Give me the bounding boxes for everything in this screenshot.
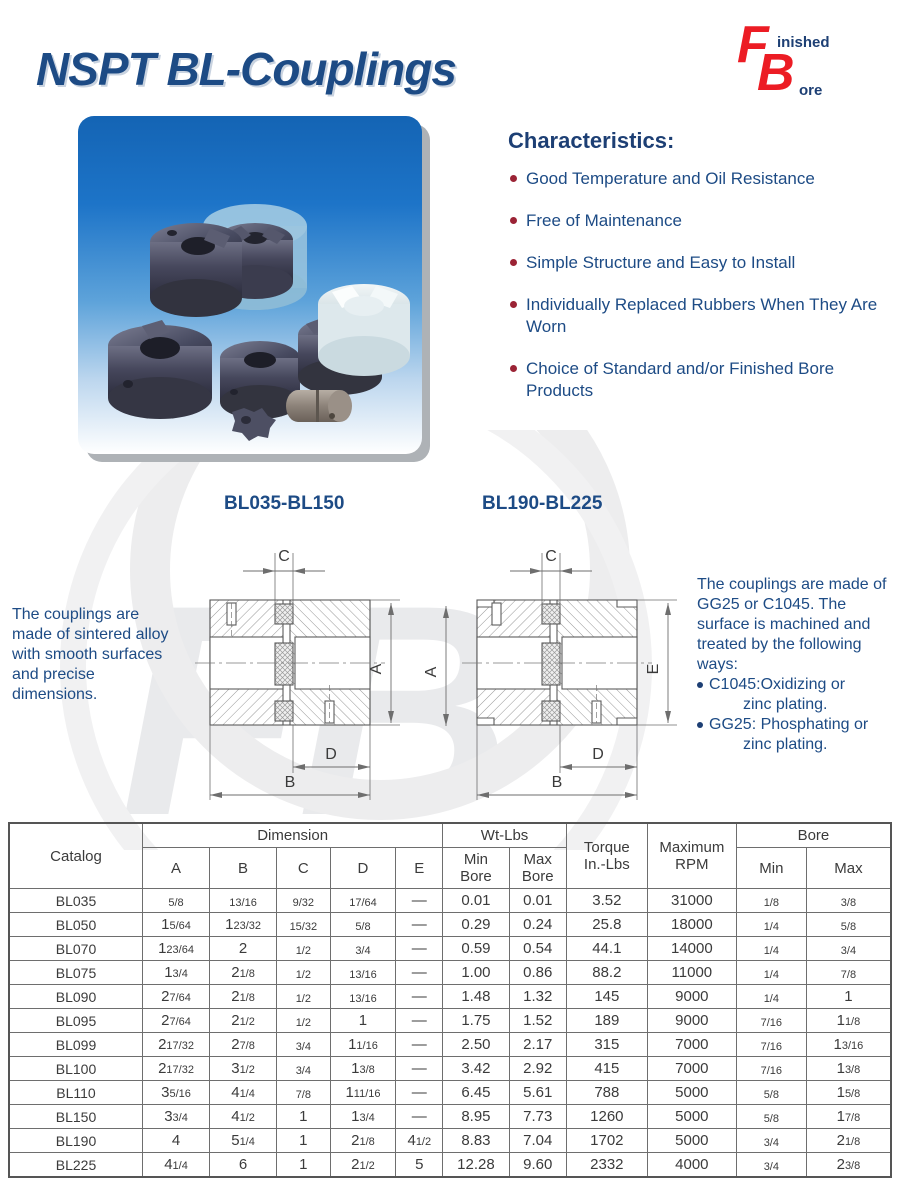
- th-weight: Wt-Lbs: [443, 823, 567, 848]
- cell-dim-a: 4: [143, 1129, 210, 1153]
- cell-catalog: BL099: [9, 1033, 143, 1057]
- cell-dim-a: 13/4: [143, 961, 210, 985]
- cell-torque: 3.52: [566, 889, 647, 913]
- cell-catalog: BL050: [9, 913, 143, 937]
- logo-bore-text: ore: [799, 82, 822, 99]
- cell-max-bore-weight: 7.04: [509, 1129, 566, 1153]
- cell-rpm: 7000: [647, 1033, 736, 1057]
- cell-dim-e: 5: [396, 1153, 443, 1178]
- cell-bore-min: 5/8: [736, 1081, 806, 1105]
- table-row: BL11035/1641/47/8111/16—6.455.6178850005…: [9, 1081, 891, 1105]
- th-dim-b: B: [210, 848, 277, 889]
- cell-dim-d: 111/16: [330, 1081, 396, 1105]
- cell-dim-e: —: [396, 889, 443, 913]
- cell-min-bore-weight: 1.75: [443, 1009, 509, 1033]
- cell-bore-min: 7/16: [736, 1033, 806, 1057]
- cell-torque: 315: [566, 1033, 647, 1057]
- cell-dim-b: 6: [210, 1153, 277, 1178]
- bullet-icon: [510, 175, 517, 182]
- cell-rpm: 7000: [647, 1057, 736, 1081]
- bullet-icon: [510, 217, 517, 224]
- dim-label-c: C: [545, 548, 557, 565]
- cell-dim-a: 217/32: [143, 1057, 210, 1081]
- specification-table-wrapper: Catalog Dimension Wt-Lbs Torque In.-Lbs …: [8, 822, 892, 1178]
- cell-dim-a: 27/64: [143, 985, 210, 1009]
- cell-dim-c: 1/2: [277, 985, 331, 1009]
- cell-min-bore-weight: 8.83: [443, 1129, 509, 1153]
- diagram-caption-right: BL190-BL225: [482, 493, 602, 515]
- characteristics-list: Good Temperature and Oil Resistance Free…: [508, 168, 880, 422]
- table-row: BL15033/441/2113/4—8.957.73126050005/817…: [9, 1105, 891, 1129]
- cell-rpm: 11000: [647, 961, 736, 985]
- dim-label-d: D: [325, 746, 337, 763]
- bullet-icon: [510, 365, 517, 372]
- cell-dim-c: 3/4: [277, 1057, 331, 1081]
- cell-min-bore-weight: 0.01: [443, 889, 509, 913]
- cell-bore-min: 1/4: [736, 985, 806, 1009]
- cell-dim-d: 13/16: [330, 961, 396, 985]
- cell-dim-d: 17/64: [330, 889, 396, 913]
- cell-bore-min: 3/4: [736, 1129, 806, 1153]
- cell-dim-b: 27/8: [210, 1033, 277, 1057]
- cell-bore-min: 1/4: [736, 937, 806, 961]
- th-torque: Torque In.-Lbs: [566, 823, 647, 889]
- cell-bore-min: 3/4: [736, 1153, 806, 1178]
- cell-dim-d: 13/4: [330, 1105, 396, 1129]
- cell-max-bore-weight: 2.17: [509, 1033, 566, 1057]
- cell-torque: 189: [566, 1009, 647, 1033]
- cell-dim-b: 2: [210, 937, 277, 961]
- cell-dim-d: 13/16: [330, 985, 396, 1009]
- cell-max-bore-weight: 9.60: [509, 1153, 566, 1178]
- cell-dim-d: 21/2: [330, 1153, 396, 1178]
- table-header-row-1: Catalog Dimension Wt-Lbs Torque In.-Lbs …: [9, 823, 891, 848]
- right-bullet-item: C1045:Oxidizing or zinc plating.: [697, 675, 893, 715]
- dim-label-c: C: [278, 548, 290, 565]
- cell-bore-max: 17/8: [806, 1105, 891, 1129]
- th-bore: Bore: [736, 823, 891, 848]
- cell-bore-max: 5/8: [806, 913, 891, 937]
- cross-section-bl190-bl225: C E D B: [432, 525, 692, 825]
- cell-dim-e: —: [396, 937, 443, 961]
- cell-bore-max: 21/8: [806, 1129, 891, 1153]
- cell-dim-c: 3/4: [277, 1033, 331, 1057]
- th-max-bore-weight: Max Bore: [509, 848, 566, 889]
- cell-bore-min: 1/4: [736, 961, 806, 985]
- list-item: Choice of Standard and/or Finished Bore …: [508, 358, 880, 402]
- cell-rpm: 14000: [647, 937, 736, 961]
- cell-dim-c: 1/2: [277, 1009, 331, 1033]
- cell-dim-b: 41/2: [210, 1105, 277, 1129]
- cell-max-bore-weight: 5.61: [509, 1081, 566, 1105]
- th-torque-line1: Torque: [584, 839, 630, 856]
- cell-bore-max: 3/4: [806, 937, 891, 961]
- bullet-icon: [510, 259, 517, 266]
- cell-torque: 1702: [566, 1129, 647, 1153]
- cell-torque: 1260: [566, 1105, 647, 1129]
- cell-dim-b: 51/4: [210, 1129, 277, 1153]
- right-bullet-main: GG25: Phosphating or: [709, 716, 868, 733]
- th-max-bore-l1: Max: [524, 851, 552, 868]
- list-item: Individually Replaced Rubbers When They …: [508, 294, 880, 338]
- characteristic-text: Good Temperature and Oil Resistance: [526, 169, 815, 188]
- table-row: BL190451/4121/841/28.837.04170250003/421…: [9, 1129, 891, 1153]
- cell-dim-a: 5/8: [143, 889, 210, 913]
- cell-bore-max: 23/8: [806, 1153, 891, 1178]
- right-note-text: The couplings are made of GG25 or C1045.…: [697, 575, 893, 675]
- dim-label-b: B: [552, 774, 563, 791]
- left-note-text: The couplings are made of sintered alloy…: [12, 605, 180, 705]
- th-catalog: Catalog: [9, 823, 143, 889]
- right-bullet-cont: zinc plating.: [709, 695, 893, 715]
- cell-bore-max: 7/8: [806, 961, 891, 985]
- cell-dim-d: 3/4: [330, 937, 396, 961]
- cell-dim-c: 7/8: [277, 1081, 331, 1105]
- fb-logo: F inished B ore: [737, 22, 857, 104]
- table-row: BL05015/64123/3215/325/8—0.290.2425.8180…: [9, 913, 891, 937]
- right-bullet-item: GG25: Phosphating or zinc plating.: [697, 715, 893, 755]
- cell-dim-b: 21/2: [210, 1009, 277, 1033]
- cell-max-bore-weight: 0.54: [509, 937, 566, 961]
- table-row: BL070123/6421/23/4—0.590.5444.1140001/43…: [9, 937, 891, 961]
- characteristic-text: Individually Replaced Rubbers When They …: [526, 295, 877, 336]
- th-dim-a: A: [143, 848, 210, 889]
- cell-catalog: BL110: [9, 1081, 143, 1105]
- characteristic-text: Simple Structure and Easy to Install: [526, 253, 795, 272]
- list-item: Simple Structure and Easy to Install: [508, 252, 880, 274]
- logo-b-letter: B: [757, 50, 795, 96]
- cell-torque: 25.8: [566, 913, 647, 937]
- cell-min-bore-weight: 1.48: [443, 985, 509, 1009]
- cell-torque: 145: [566, 985, 647, 1009]
- cell-dim-d: 11/16: [330, 1033, 396, 1057]
- cross-section-bl035-bl150: C A D B: [165, 525, 425, 825]
- cell-torque: 788: [566, 1081, 647, 1105]
- table-row: BL22541/46121/2512.289.60233240003/423/8: [9, 1153, 891, 1178]
- cell-dim-e: —: [396, 1105, 443, 1129]
- cell-torque: 44.1: [566, 937, 647, 961]
- cell-dim-b: 31/2: [210, 1057, 277, 1081]
- cell-rpm: 5000: [647, 1129, 736, 1153]
- cell-bore-min: 7/16: [736, 1009, 806, 1033]
- cell-dim-a: 27/64: [143, 1009, 210, 1033]
- list-item: Free of Maintenance: [508, 210, 880, 232]
- cell-dim-e: —: [396, 985, 443, 1009]
- table-row: BL09027/6421/81/213/16—1.481.3214590001/…: [9, 985, 891, 1009]
- cell-max-bore-weight: 0.01: [509, 889, 566, 913]
- th-min-bore-weight: Min Bore: [443, 848, 509, 889]
- cell-max-bore-weight: 7.73: [509, 1105, 566, 1129]
- dim-label-a: A: [368, 663, 385, 674]
- cell-dim-c: 15/32: [277, 913, 331, 937]
- cell-min-bore-weight: 0.29: [443, 913, 509, 937]
- cell-max-bore-weight: 1.52: [509, 1009, 566, 1033]
- table-row: BL09527/6421/21/21—1.751.5218990007/1611…: [9, 1009, 891, 1033]
- characteristic-text: Choice of Standard and/or Finished Bore …: [526, 359, 834, 400]
- cell-bore-min: 7/16: [736, 1057, 806, 1081]
- cell-rpm: 9000: [647, 985, 736, 1009]
- bullet-icon: [697, 682, 703, 688]
- cell-bore-max: 3/8: [806, 889, 891, 913]
- th-dim-c: C: [277, 848, 331, 889]
- cell-rpm: 18000: [647, 913, 736, 937]
- cell-dim-b: 13/16: [210, 889, 277, 913]
- cell-bore-min: 5/8: [736, 1105, 806, 1129]
- table-row: BL099217/3227/83/411/16—2.502.1731570007…: [9, 1033, 891, 1057]
- cell-min-bore-weight: 2.50: [443, 1033, 509, 1057]
- cell-bore-max: 15/8: [806, 1081, 891, 1105]
- cell-torque: 2332: [566, 1153, 647, 1178]
- cell-dim-a: 35/16: [143, 1081, 210, 1105]
- technical-diagrams: BL035-BL150 BL190-BL225 The couplings ar…: [0, 480, 900, 820]
- cell-dim-e: —: [396, 1009, 443, 1033]
- cell-dim-b: 123/32: [210, 913, 277, 937]
- cell-bore-max: 1: [806, 985, 891, 1009]
- cell-min-bore-weight: 3.42: [443, 1057, 509, 1081]
- cell-dim-d: 21/8: [330, 1129, 396, 1153]
- bullet-icon: [697, 722, 703, 728]
- cell-rpm: 5000: [647, 1105, 736, 1129]
- th-rpm: Maximum RPM: [647, 823, 736, 889]
- th-dim-e: E: [396, 848, 443, 889]
- cell-dim-a: 33/4: [143, 1105, 210, 1129]
- cell-dim-e: —: [396, 1081, 443, 1105]
- cell-catalog: BL075: [9, 961, 143, 985]
- table-row: BL07513/421/81/213/16—1.000.8688.2110001…: [9, 961, 891, 985]
- cell-catalog: BL190: [9, 1129, 143, 1153]
- cell-max-bore-weight: 2.92: [509, 1057, 566, 1081]
- th-torque-line2: In.-Lbs: [584, 856, 630, 873]
- th-min-bore-l1: Min: [464, 851, 488, 868]
- cell-dim-e: —: [396, 961, 443, 985]
- cell-dim-d: 5/8: [330, 913, 396, 937]
- cell-bore-min: 1/8: [736, 889, 806, 913]
- cell-min-bore-weight: 12.28: [443, 1153, 509, 1178]
- right-note-block: The couplings are made of GG25 or C1045.…: [697, 575, 893, 755]
- dim-label-e: E: [645, 664, 662, 675]
- characteristic-text: Free of Maintenance: [526, 211, 682, 230]
- table-row: BL100217/3231/23/413/8—3.422.9241570007/…: [9, 1057, 891, 1081]
- cell-rpm: 5000: [647, 1081, 736, 1105]
- cell-dim-e: —: [396, 1033, 443, 1057]
- th-dimension: Dimension: [143, 823, 443, 848]
- list-item: Good Temperature and Oil Resistance: [508, 168, 880, 190]
- cell-catalog: BL035: [9, 889, 143, 913]
- th-bore-max: Max: [806, 848, 891, 889]
- cell-dim-d: 13/8: [330, 1057, 396, 1081]
- cell-catalog: BL100: [9, 1057, 143, 1081]
- cell-dim-b: 41/4: [210, 1081, 277, 1105]
- cell-min-bore-weight: 6.45: [443, 1081, 509, 1105]
- th-dim-d: D: [330, 848, 396, 889]
- cell-rpm: 9000: [647, 1009, 736, 1033]
- diagram-caption-left: BL035-BL150: [224, 493, 344, 515]
- datasheet-page: FB NSPT BL-Couplings F inished B ore: [0, 0, 900, 1157]
- cell-dim-c: 1: [277, 1105, 331, 1129]
- cell-dim-a: 15/64: [143, 913, 210, 937]
- cell-torque: 88.2: [566, 961, 647, 985]
- dim-label-b: B: [285, 774, 296, 791]
- cell-catalog: BL225: [9, 1153, 143, 1178]
- cell-dim-e: 41/2: [396, 1129, 443, 1153]
- cell-torque: 415: [566, 1057, 647, 1081]
- th-bore-min: Min: [736, 848, 806, 889]
- characteristics-heading: Characteristics:: [508, 128, 674, 154]
- cell-bore-min: 1/4: [736, 913, 806, 937]
- cell-dim-c: 1: [277, 1129, 331, 1153]
- cell-min-bore-weight: 0.59: [443, 937, 509, 961]
- cell-dim-c: 1: [277, 1153, 331, 1178]
- cell-bore-max: 11/8: [806, 1009, 891, 1033]
- cell-catalog: BL095: [9, 1009, 143, 1033]
- cell-dim-a: 41/4: [143, 1153, 210, 1178]
- cell-rpm: 4000: [647, 1153, 736, 1178]
- right-bullet-main: C1045:Oxidizing or: [709, 676, 845, 693]
- cell-dim-a: 123/64: [143, 937, 210, 961]
- product-photo: [78, 116, 422, 454]
- cell-catalog: BL090: [9, 985, 143, 1009]
- th-rpm-line2: RPM: [675, 856, 708, 873]
- cell-rpm: 31000: [647, 889, 736, 913]
- cell-dim-e: —: [396, 1057, 443, 1081]
- cell-min-bore-weight: 1.00: [443, 961, 509, 985]
- cell-min-bore-weight: 8.95: [443, 1105, 509, 1129]
- dim-label-d: D: [592, 746, 604, 763]
- cell-catalog: BL150: [9, 1105, 143, 1129]
- cell-max-bore-weight: 0.24: [509, 913, 566, 937]
- th-min-bore-l2: Bore: [460, 868, 492, 885]
- dim-label-a: A: [423, 666, 440, 677]
- cell-dim-b: 21/8: [210, 961, 277, 985]
- cell-bore-max: 13/16: [806, 1033, 891, 1057]
- cell-max-bore-weight: 1.32: [509, 985, 566, 1009]
- bullet-icon: [510, 301, 517, 308]
- cell-dim-e: —: [396, 913, 443, 937]
- specification-table: Catalog Dimension Wt-Lbs Torque In.-Lbs …: [8, 822, 892, 1178]
- table-body: BL0355/813/169/3217/64—0.010.013.5231000…: [9, 889, 891, 1178]
- cell-dim-c: 1/2: [277, 937, 331, 961]
- right-bullet-cont: zinc plating.: [709, 735, 893, 755]
- th-max-bore-l2: Bore: [522, 868, 554, 885]
- cell-dim-b: 21/8: [210, 985, 277, 1009]
- cell-dim-c: 9/32: [277, 889, 331, 913]
- cell-dim-c: 1/2: [277, 961, 331, 985]
- th-rpm-line1: Maximum: [659, 839, 724, 856]
- page-title: NSPT BL-Couplings: [36, 42, 456, 96]
- table-row: BL0355/813/169/3217/64—0.010.013.5231000…: [9, 889, 891, 913]
- cell-dim-a: 217/32: [143, 1033, 210, 1057]
- cell-bore-max: 13/8: [806, 1057, 891, 1081]
- cell-catalog: BL070: [9, 937, 143, 961]
- cell-dim-d: 1: [330, 1009, 396, 1033]
- cell-max-bore-weight: 0.86: [509, 961, 566, 985]
